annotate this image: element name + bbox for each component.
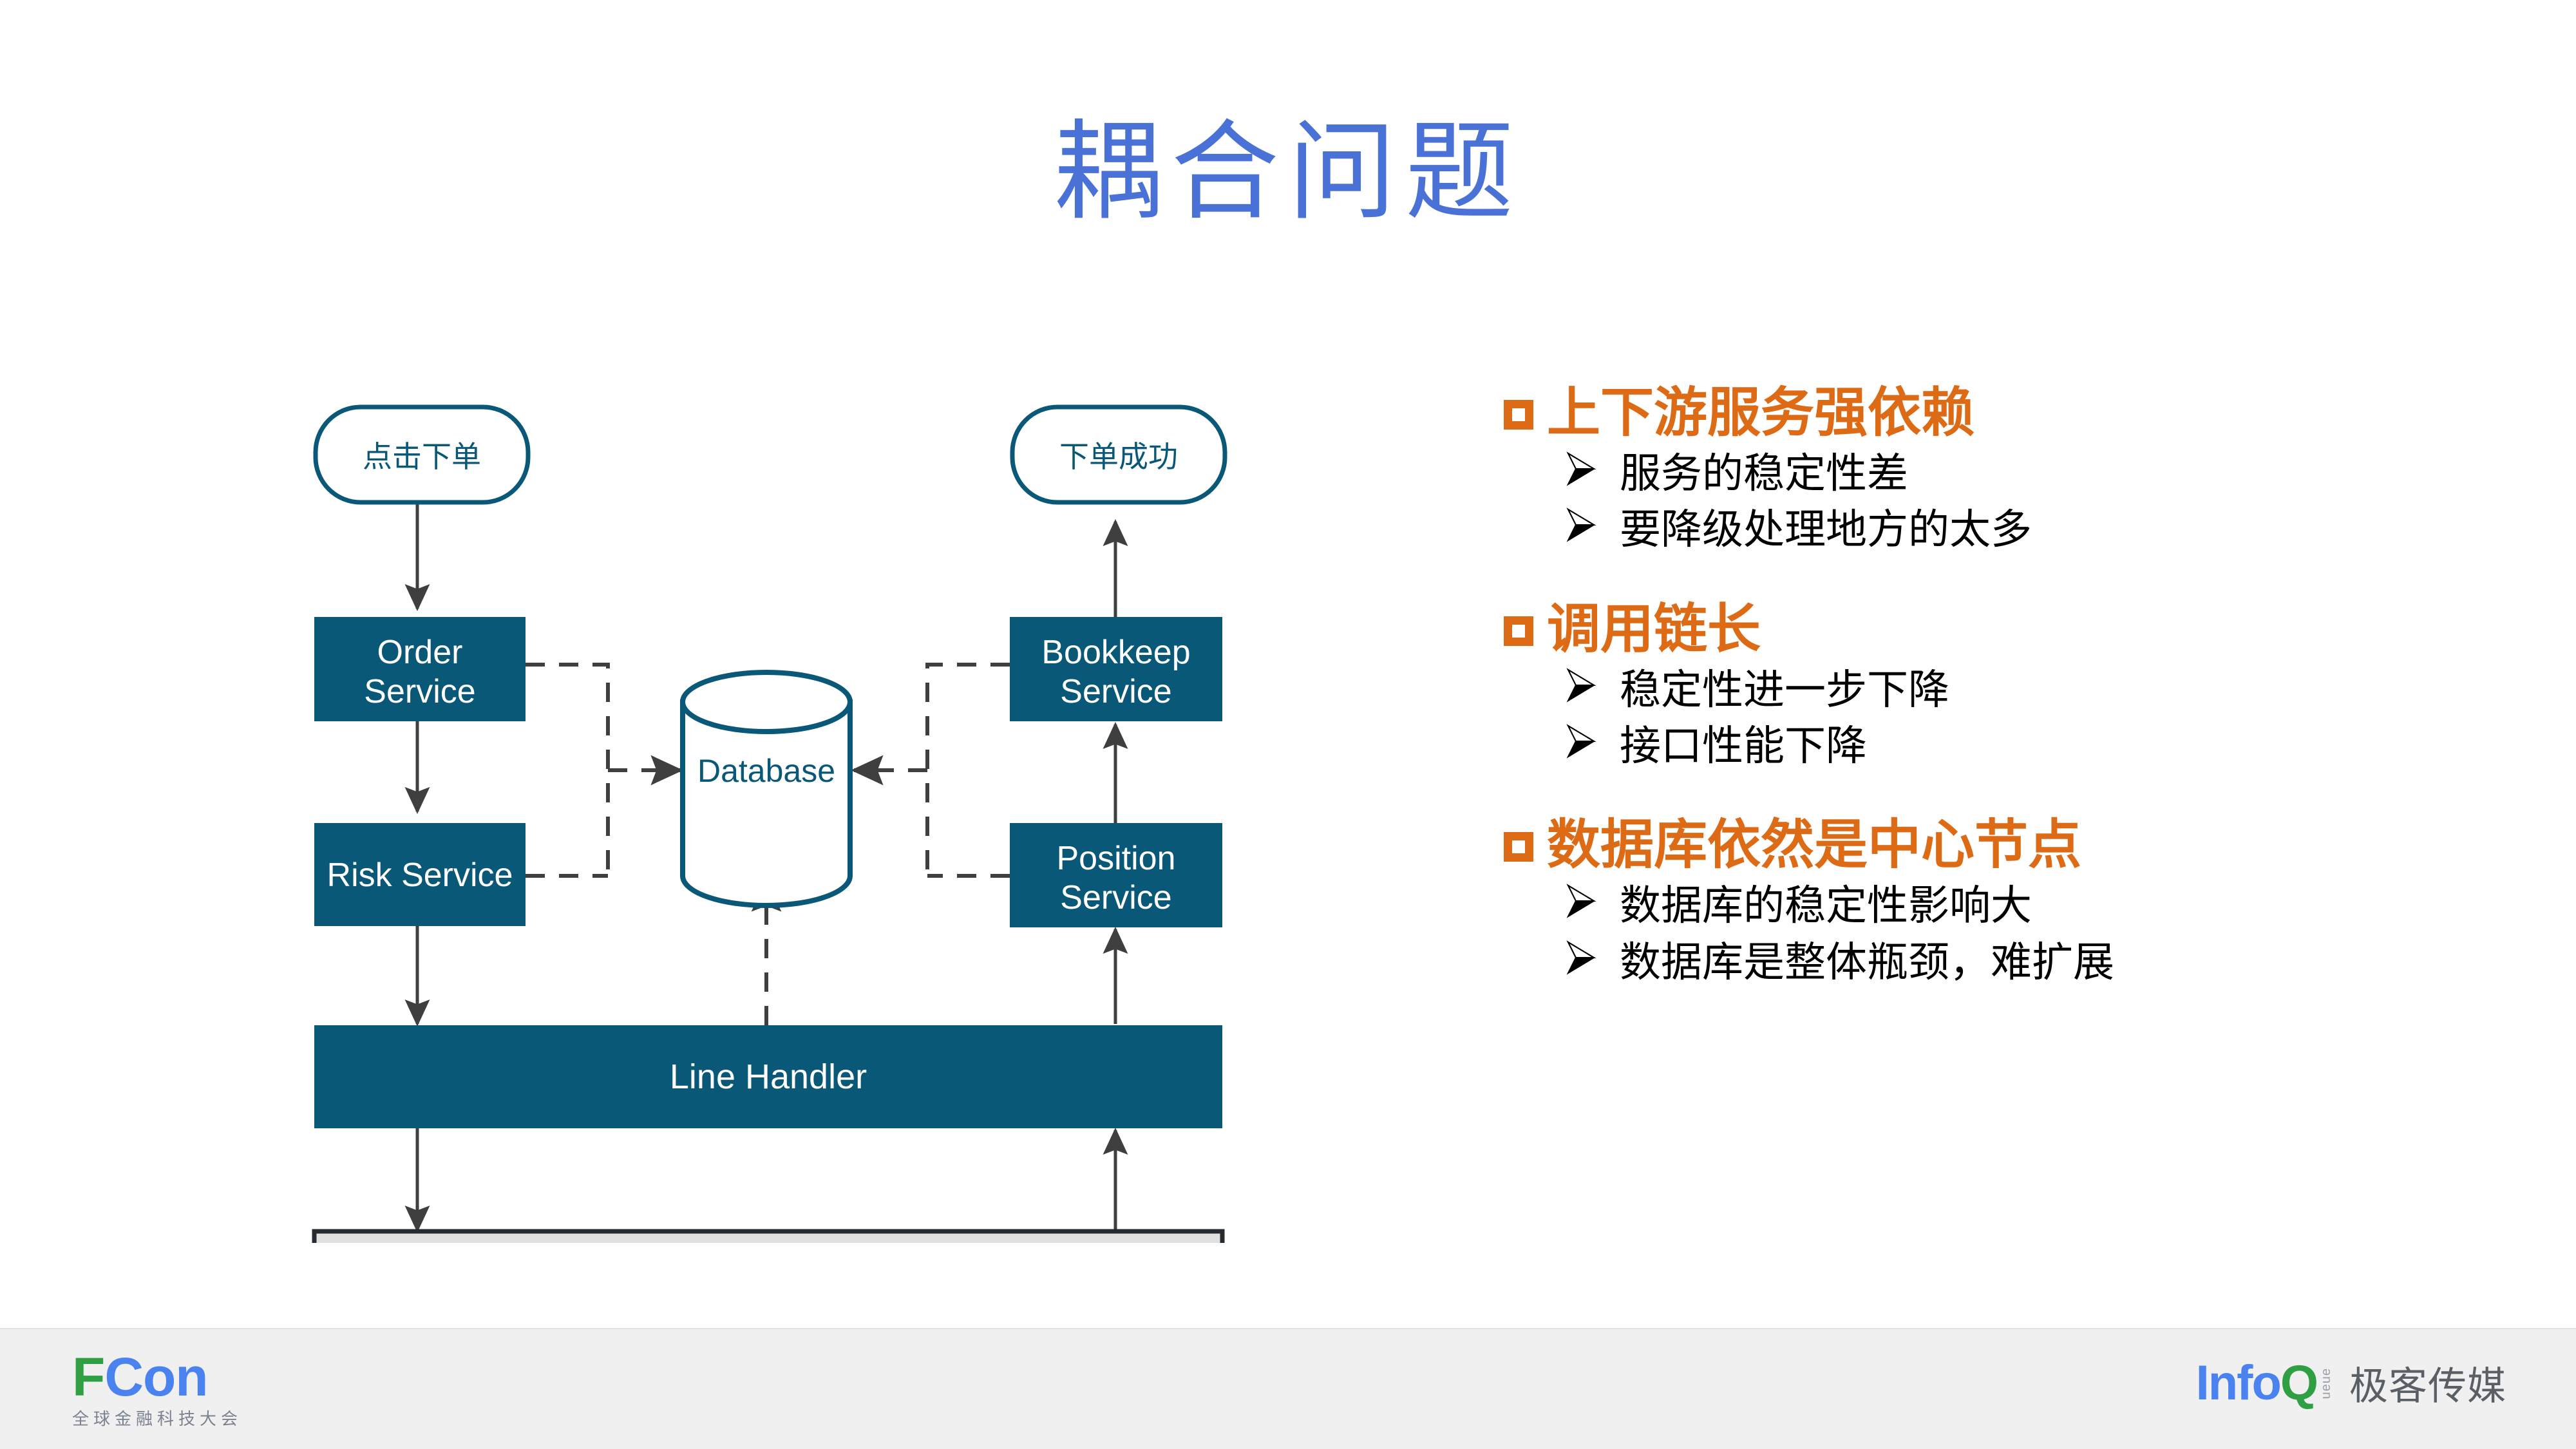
- fcon-subtitle: 全球金融科技大会: [72, 1410, 242, 1427]
- node-position-service: Position Service: [1010, 823, 1222, 927]
- bullet-subitem: 服务的稳定性差: [1566, 448, 2508, 499]
- node-label-order-service-line1: Order: [377, 634, 463, 671]
- architecture-diagram: 点击下单 下单成功 Order Service Risk Service Boo…: [270, 367, 1327, 1243]
- node-label-order-service-line2: Service: [364, 673, 475, 710]
- infoq-letter-q: Q: [2280, 1356, 2317, 1410]
- slide-footer: FCon 全球金融科技大会 InfoQ ueue 极客传媒: [0, 1328, 2576, 1449]
- bullet-subitem: 要降级处理地方的太多: [1566, 504, 2508, 555]
- bullet-group-1: 上下游服务强依赖 服务的稳定性差 要降级处理地方的太多: [1504, 383, 2508, 556]
- square-bullet-icon: [1504, 832, 1533, 862]
- node-label-database: Database: [697, 753, 835, 789]
- bullet-subitem-text: 要降级处理地方的太多: [1620, 504, 2032, 555]
- node-label-bookkeep-service-line1: Bookkeep: [1041, 634, 1190, 671]
- chevron-right-icon: [1566, 667, 1596, 703]
- chevron-right-icon: [1566, 723, 1596, 759]
- infoq-chinese-name: 极客传媒: [2349, 1367, 2506, 1406]
- node-order-success: 下单成功: [1012, 407, 1225, 502]
- bullet-heading-2: 调用链长: [1504, 600, 2508, 659]
- bullet-subitem: 接口性能下降: [1566, 721, 2508, 772]
- bullet-group-2: 调用链长 稳定性进一步下降 接口性能下降: [1504, 600, 2508, 772]
- node-risk-service: Risk Service: [314, 823, 526, 926]
- fcon-wordmark: FCon: [72, 1350, 242, 1404]
- node-label-order-success: 下单成功: [1059, 440, 1178, 473]
- node-order-service: Order Service: [314, 617, 526, 721]
- square-bullet-icon: [1504, 400, 1533, 430]
- bullet-subitem: 数据库是整体瓶颈，难扩展: [1566, 937, 2508, 988]
- node-database: Database: [683, 672, 850, 905]
- bullet-heading-1-text: 上下游服务强依赖: [1547, 383, 1975, 443]
- slide-canvas: 耦合问题: [0, 0, 2576, 1449]
- bullet-heading-2-text: 调用链长: [1547, 600, 1761, 659]
- node-bookkeep-service: Bookkeep Service: [1010, 617, 1222, 721]
- page-title: 耦合问题: [0, 113, 2576, 232]
- bullet-subitem-text: 数据库的稳定性影响大: [1620, 880, 2032, 931]
- node-label-line-handler: Line Handler: [670, 1057, 867, 1096]
- fcon-logo: FCon 全球金融科技大会: [72, 1350, 242, 1427]
- bullet-panel: 上下游服务强依赖 服务的稳定性差 要降级处理地方的太多 调用链长: [1504, 383, 2508, 988]
- bullet-heading-3-text: 数据库依然是中心节点: [1547, 815, 2081, 875]
- node-label-position-service-line1: Position: [1057, 840, 1176, 877]
- bullet-subitem-text: 服务的稳定性差: [1620, 448, 1908, 499]
- bullet-heading-1: 上下游服务强依赖: [1504, 383, 2508, 443]
- infoq-logo: InfoQ ueue 极客传媒: [2196, 1359, 2506, 1408]
- chevron-right-icon: [1566, 883, 1596, 919]
- infoq-ueue-text: ueue: [2320, 1368, 2333, 1399]
- infoq-wordmark: InfoQ: [2196, 1359, 2317, 1408]
- bullet-subitem-text: 接口性能下降: [1620, 721, 1867, 772]
- fcon-letter-f: F: [72, 1347, 104, 1407]
- bullet-group-3: 数据库依然是中心节点 数据库的稳定性影响大 数据库是整体瓶颈，难扩展: [1504, 815, 2508, 988]
- chevron-right-icon: [1566, 507, 1596, 543]
- chevron-right-icon: [1566, 451, 1596, 487]
- bullet-subitem-text: 稳定性进一步下降: [1620, 665, 1949, 715]
- infoq-letters-info: Info: [2196, 1356, 2280, 1410]
- chevron-right-icon: [1566, 940, 1596, 976]
- node-exchange: Exchange: [314, 1231, 1222, 1243]
- node-label-risk-service: Risk Service: [327, 857, 513, 894]
- node-click-order: 点击下单: [316, 407, 528, 502]
- bullet-subitem: 稳定性进一步下降: [1566, 665, 2508, 715]
- square-bullet-icon: [1504, 616, 1533, 646]
- node-label-position-service-line2: Service: [1060, 879, 1171, 916]
- node-line-handler: Line Handler: [314, 1025, 1222, 1128]
- fcon-letters-con: Con: [104, 1347, 207, 1407]
- bullet-heading-3: 数据库依然是中心节点: [1504, 815, 2508, 875]
- node-label-bookkeep-service-line2: Service: [1060, 673, 1171, 710]
- bullet-subitem: 数据库的稳定性影响大: [1566, 880, 2508, 931]
- bullet-subitem-text: 数据库是整体瓶颈，难扩展: [1620, 937, 2114, 988]
- node-label-click-order: 点击下单: [363, 440, 481, 473]
